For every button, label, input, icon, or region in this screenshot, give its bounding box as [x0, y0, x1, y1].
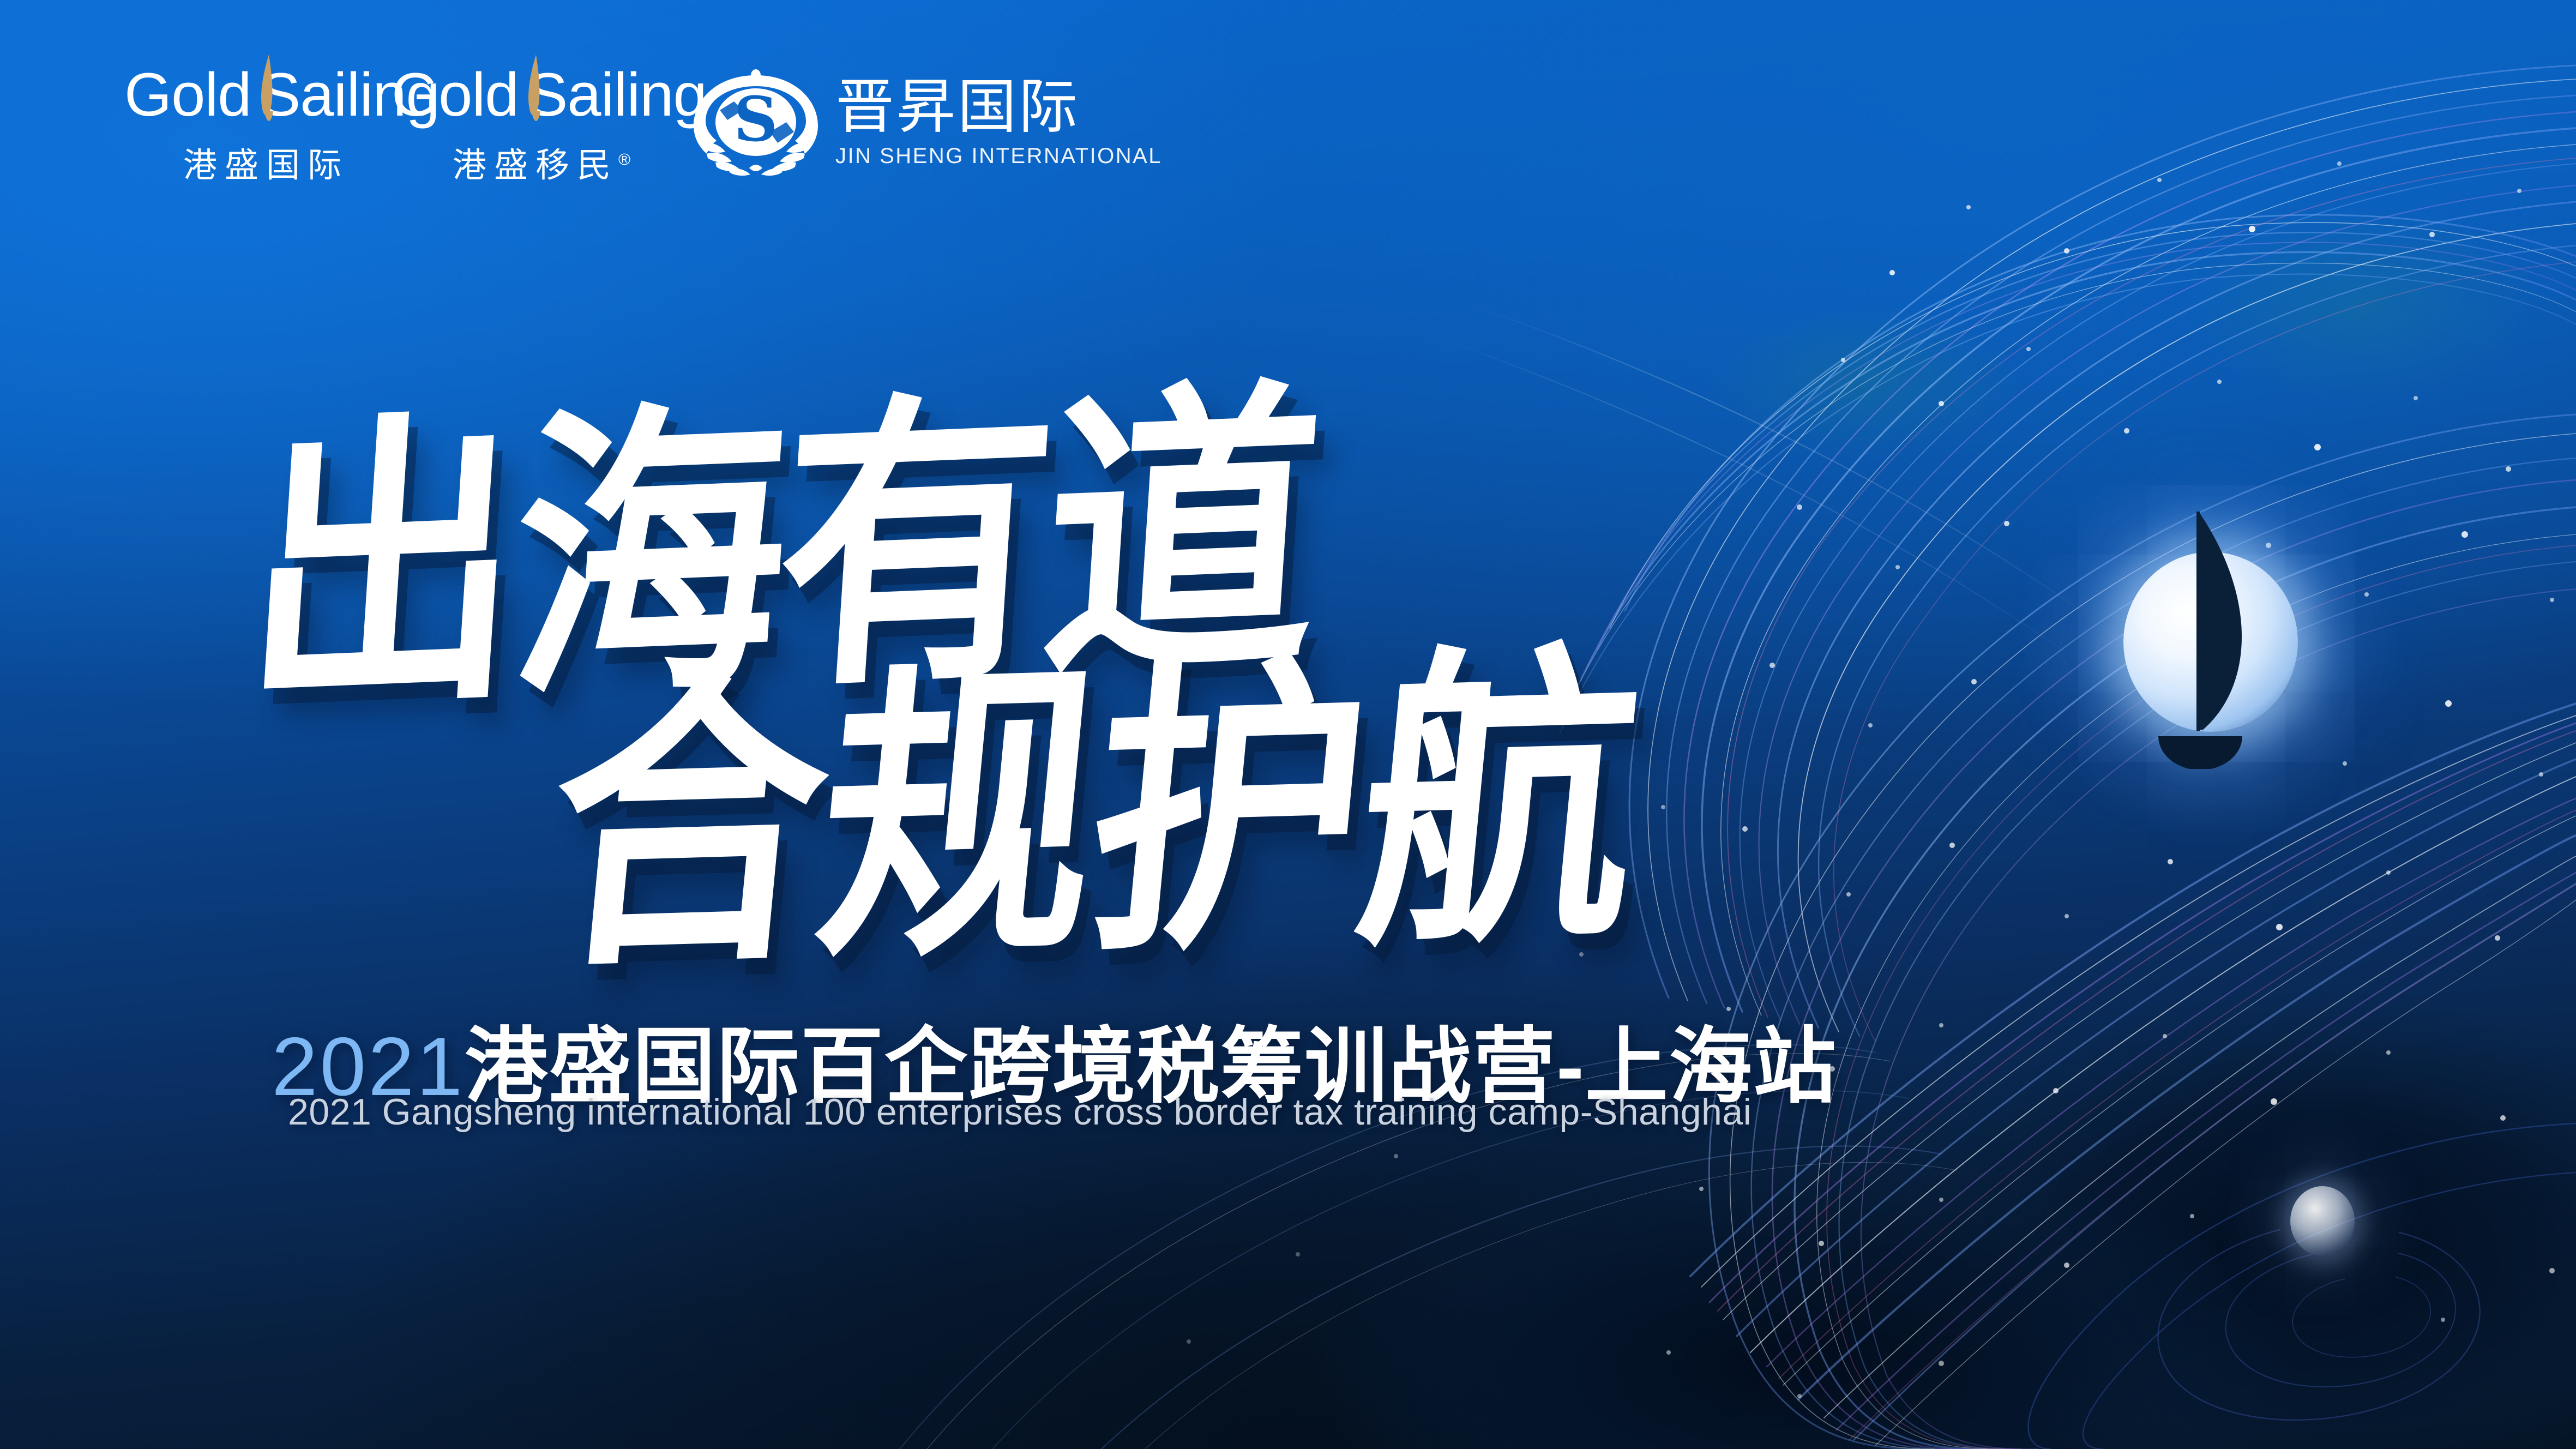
- event-banner: Gold Sailing 港盛国际 Gold: [0, 0, 2576, 1449]
- event-subtitle-english: 2021 Gangsheng international 100 enterpr…: [288, 1091, 1752, 1133]
- logo-subtitle-cn: 港盛移民®: [392, 137, 675, 187]
- jin-sheng-title-en: JIN SHENG INTERNATIONAL: [835, 145, 1162, 167]
- logo-gold-sailing-immigration[interactable]: Gold Sailing 港盛移民®: [392, 64, 675, 187]
- sailboat-silhouette: [2116, 507, 2312, 769]
- registered-mark: ®: [618, 151, 630, 169]
- wordmark-sailing: Sailing: [527, 64, 707, 125]
- logo-jin-sheng-international[interactable]: S 晋昇国际 JIN SHENG INTERNATIONAL: [690, 68, 1162, 177]
- jin-sheng-title-cn: 晋昇国际: [835, 77, 1162, 136]
- calligraphy-line-2: 合规护航: [533, 546, 1657, 1026]
- logo-gold-sailing-international[interactable]: Gold Sailing 港盛国际: [124, 64, 392, 187]
- wordmark-gold: Gold: [124, 64, 251, 125]
- logo-subtitle-cn: 港盛国际: [124, 137, 392, 187]
- jin-sheng-text: 晋昇国际 JIN SHENG INTERNATIONAL: [835, 77, 1162, 167]
- svg-text:S: S: [734, 84, 778, 155]
- gold-sailing-wordmark: Gold Sailing: [392, 64, 675, 125]
- logo-bar: Gold Sailing 港盛国际 Gold: [124, 64, 1162, 187]
- wordmark-gold: Gold: [392, 64, 519, 125]
- hero-calligraphy: 出海有道 合规护航: [251, 327, 1734, 982]
- secondary-glow-orb: [2290, 1186, 2355, 1256]
- jin-sheng-emblem-icon: S: [690, 68, 821, 177]
- gold-sailing-wordmark: Gold Sailing: [124, 64, 392, 125]
